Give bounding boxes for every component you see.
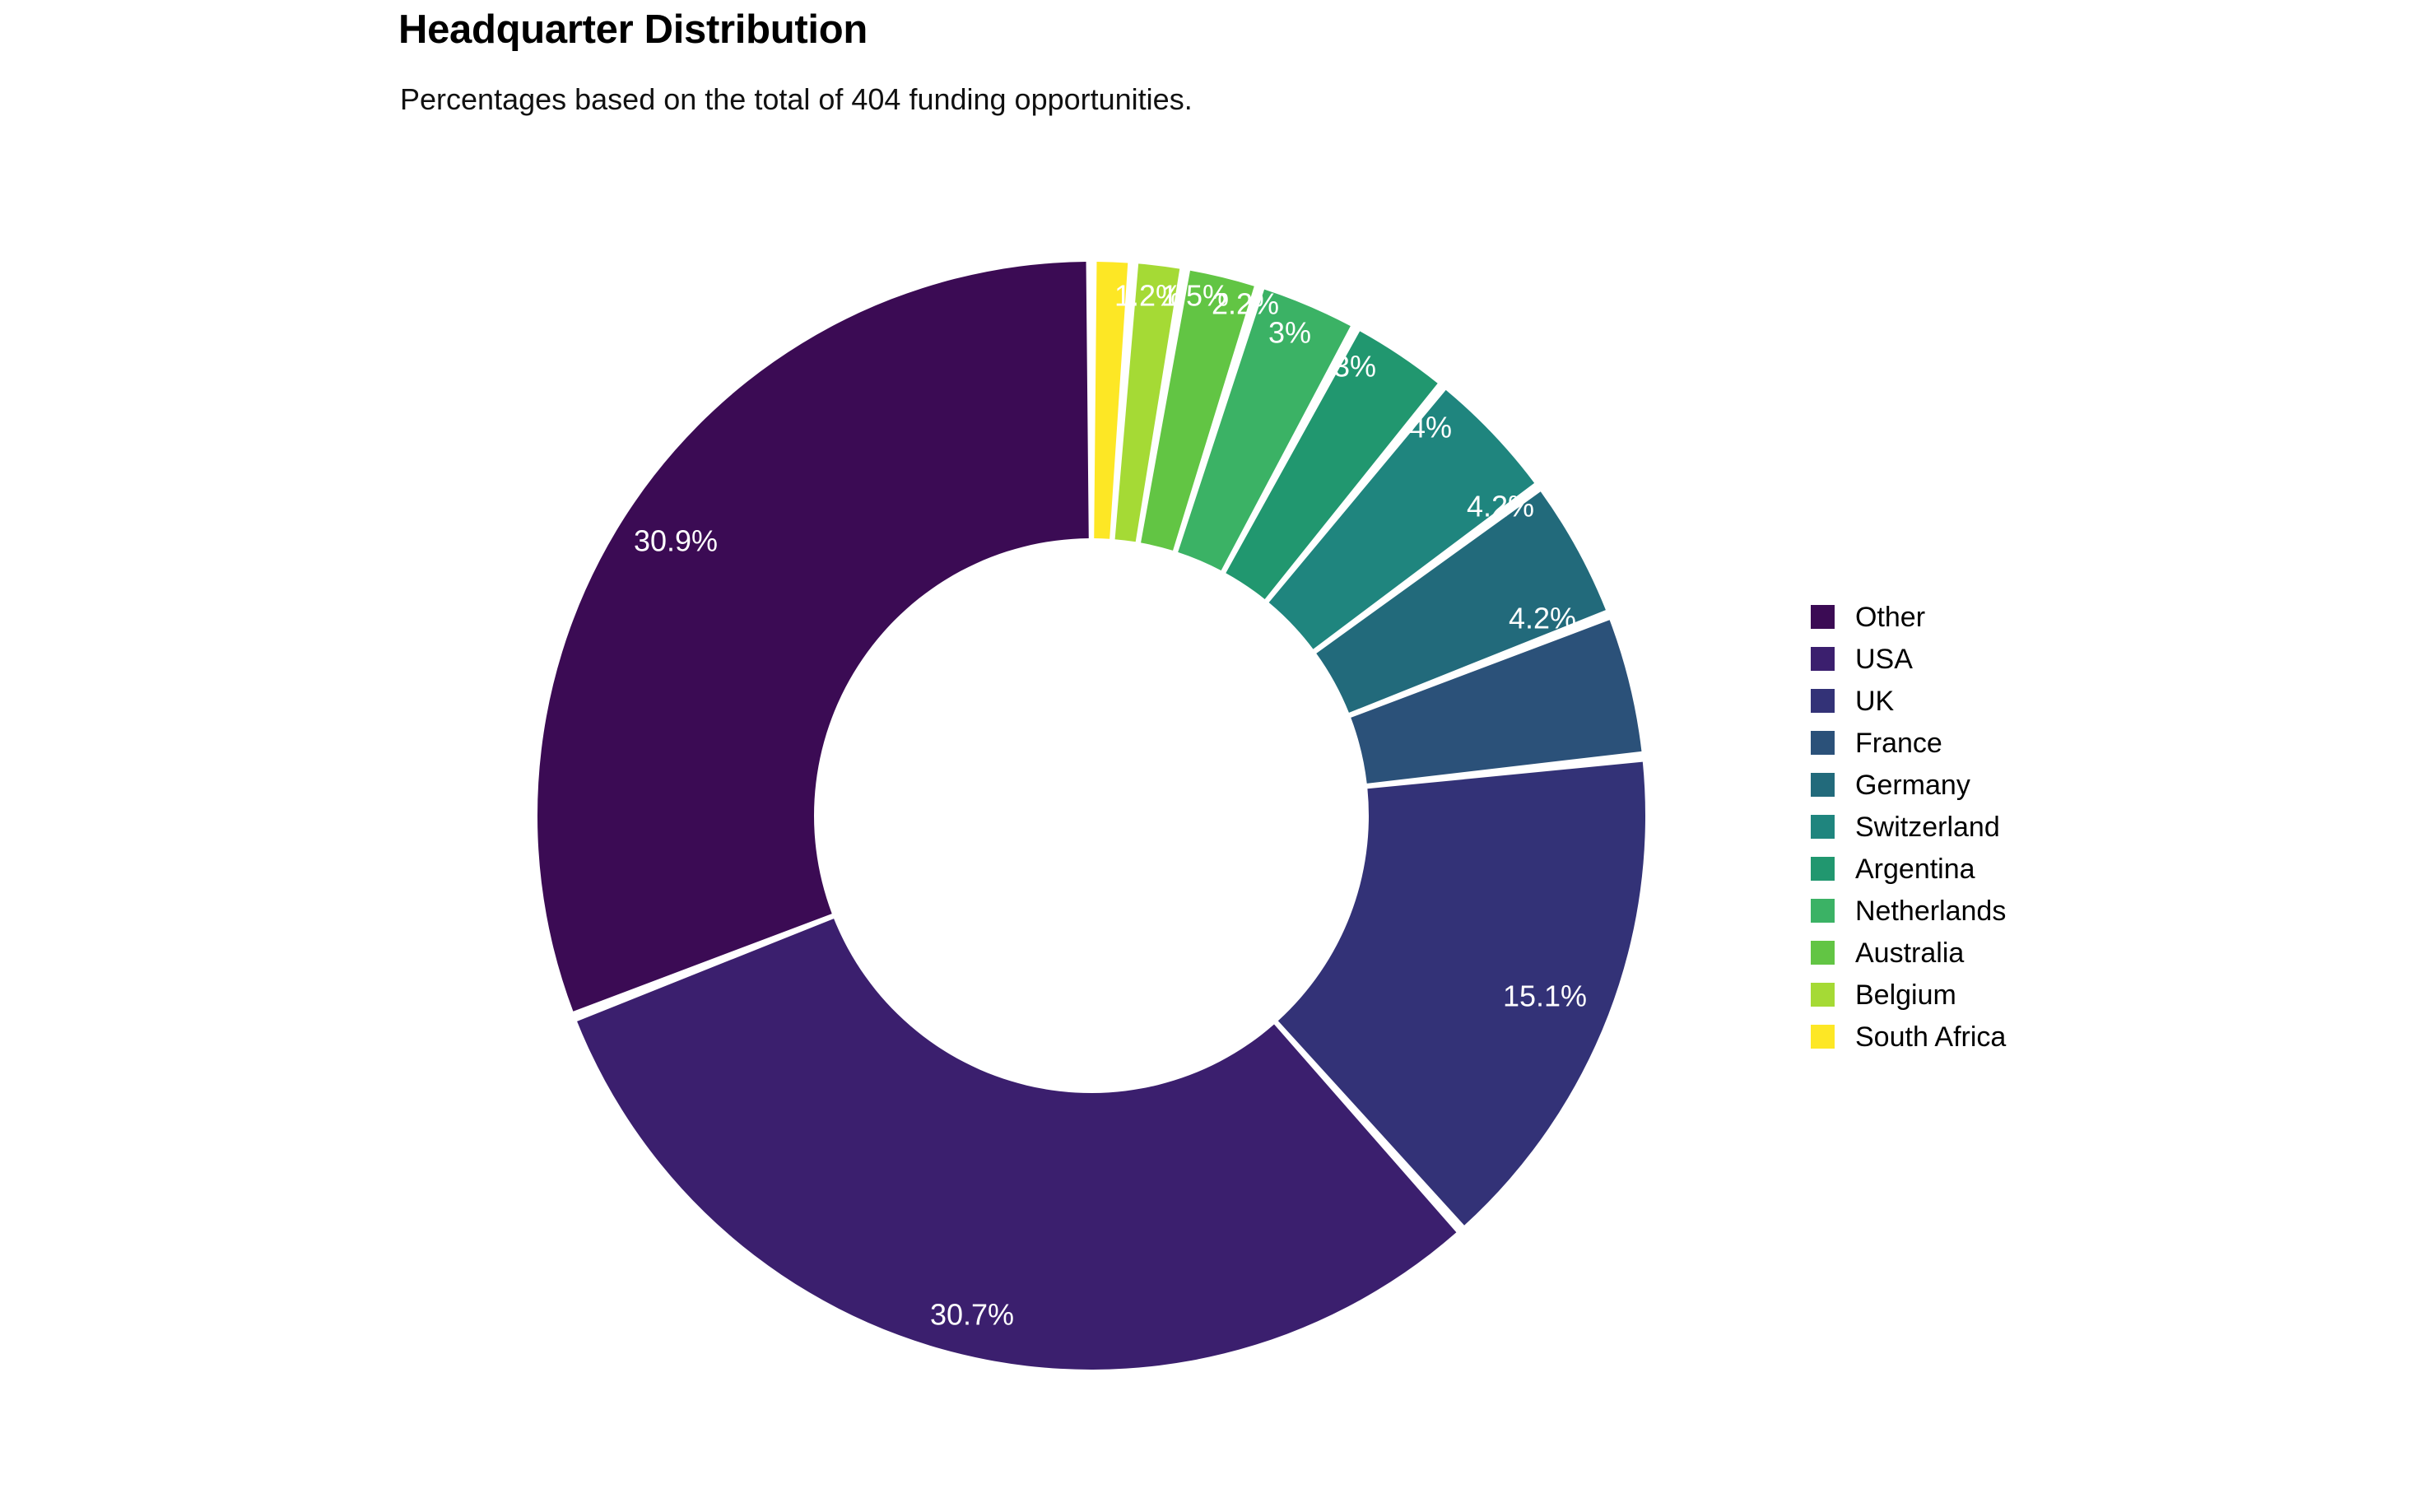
legend-item[interactable]: Other [1811, 596, 2156, 638]
slice-percentage-label: 15.1% [1503, 979, 1587, 1013]
legend-item[interactable]: Australia [1811, 932, 2156, 974]
legend-label: Netherlands [1855, 897, 2006, 925]
legend-swatch [1811, 605, 1835, 629]
legend-swatch [1811, 1025, 1835, 1049]
legend-swatch [1811, 899, 1835, 923]
legend-label: Belgium [1855, 981, 1956, 1009]
legend-item[interactable]: Netherlands [1811, 890, 2156, 932]
slice-percentage-label: 4% [1409, 411, 1452, 444]
slice-percentage-label: 3% [1268, 316, 1311, 350]
legend-item[interactable]: South Africa [1811, 1016, 2156, 1058]
legend-swatch [1811, 983, 1835, 1007]
legend-label: Other [1855, 603, 1925, 631]
legend-swatch [1811, 689, 1835, 713]
slice-percentage-label: 3% [1333, 350, 1376, 384]
chart-legend: OtherUSAUKFranceGermanySwitzerlandArgent… [1811, 596, 2156, 1058]
legend-label: USA [1855, 645, 1913, 673]
legend-label: South Africa [1855, 1023, 2006, 1051]
donut-slice[interactable] [537, 262, 1089, 1012]
legend-label: Switzerland [1855, 813, 2000, 841]
legend-item[interactable]: France [1811, 722, 2156, 764]
legend-swatch [1811, 647, 1835, 671]
legend-item[interactable]: Switzerland [1811, 806, 2156, 848]
legend-label: Argentina [1855, 855, 1975, 883]
slice-percentage-label: 30.7% [930, 1298, 1014, 1332]
legend-item[interactable]: Belgium [1811, 974, 2156, 1016]
legend-label: UK [1855, 687, 1894, 715]
legend-label: Germany [1855, 771, 1970, 799]
legend-swatch [1811, 773, 1835, 797]
legend-item[interactable]: Argentina [1811, 848, 2156, 890]
legend-item[interactable]: Germany [1811, 764, 2156, 806]
legend-item[interactable]: UK [1811, 680, 2156, 722]
slice-percentage-label: 4.2% [1509, 602, 1576, 635]
legend-swatch [1811, 731, 1835, 755]
legend-swatch [1811, 857, 1835, 881]
chart-page: Headquarter Distribution Percentages bas… [0, 0, 2419, 1512]
legend-label: France [1855, 729, 1942, 757]
legend-swatch [1811, 815, 1835, 839]
slice-percentage-label: 4.2% [1467, 490, 1534, 523]
legend-label: Australia [1855, 939, 1964, 967]
legend-item[interactable]: USA [1811, 638, 2156, 680]
legend-swatch [1811, 941, 1835, 965]
slice-percentage-label: 30.9% [634, 524, 718, 558]
